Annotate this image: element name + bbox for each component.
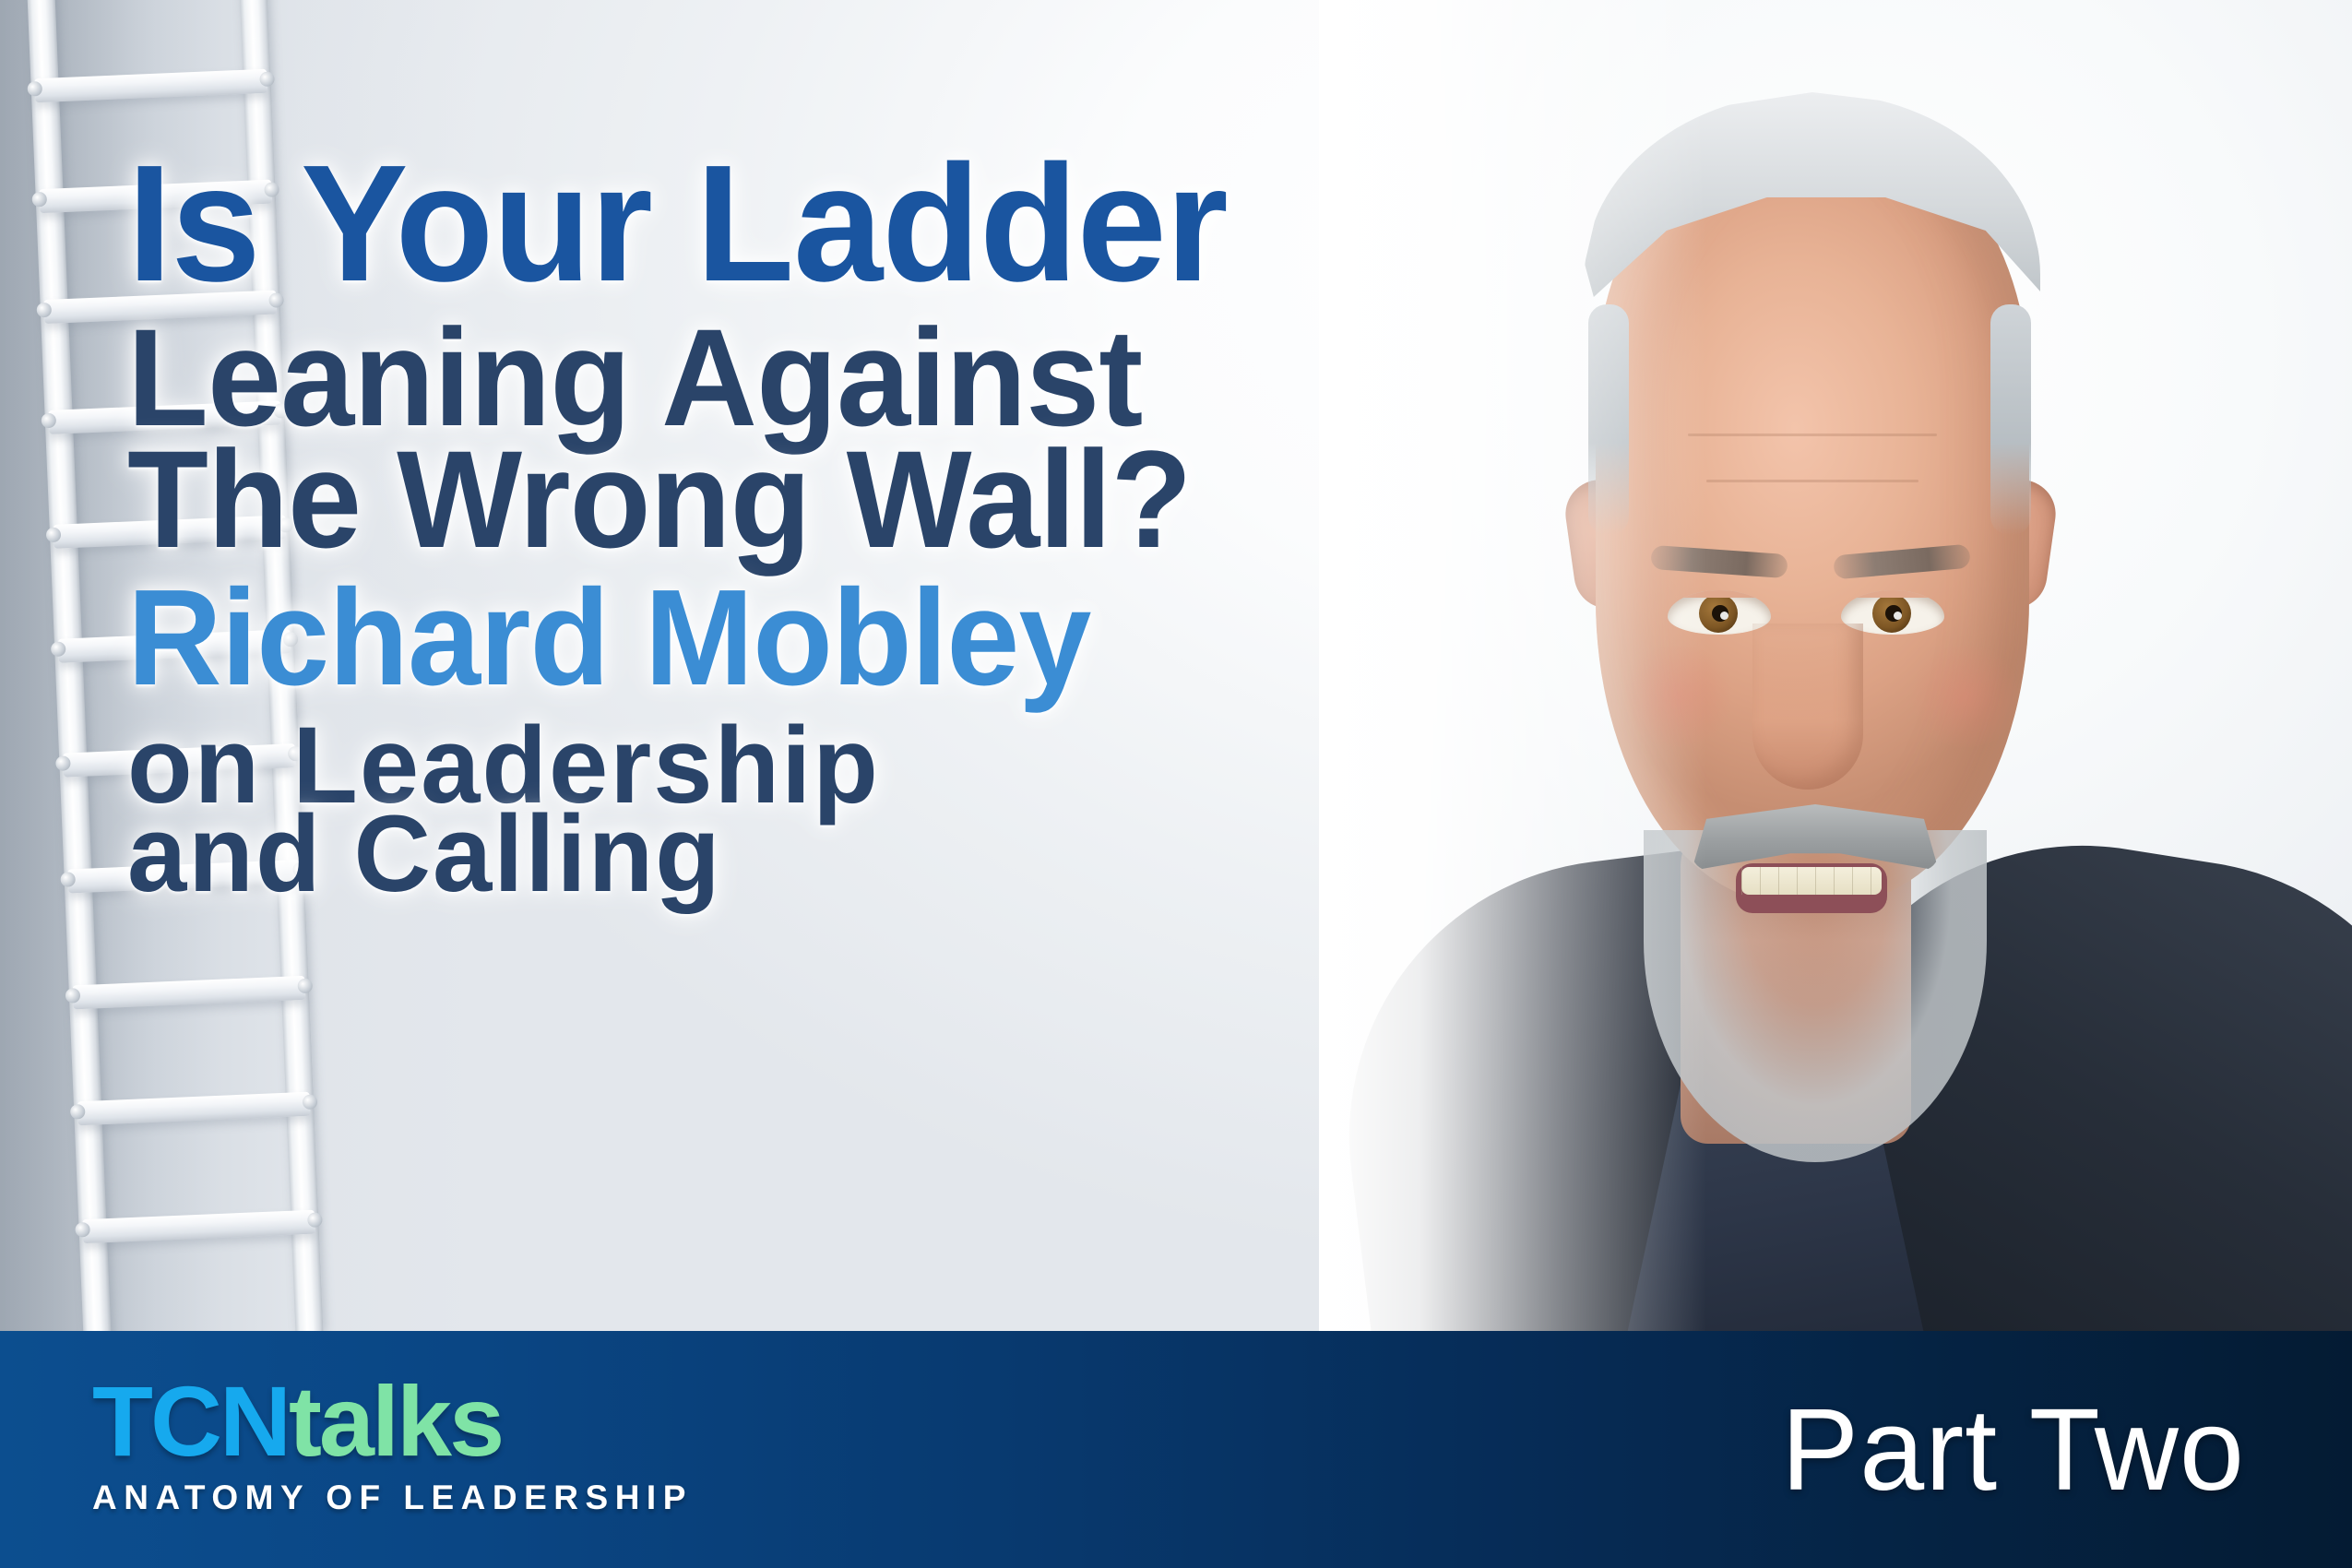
episode-title-block: Is Your Ladder Leaning Against The Wrong… <box>127 148 1474 905</box>
iris-right <box>1872 594 1911 633</box>
cheek-left <box>1618 646 1738 747</box>
teeth <box>1741 867 1882 895</box>
nose <box>1752 624 1863 790</box>
forehead-line <box>1706 480 1918 482</box>
title-line-6: and Calling <box>127 804 1447 905</box>
forehead-line <box>1688 434 1937 436</box>
logo-wordmark: TCNtalks <box>92 1372 756 1471</box>
sideburn-left <box>1588 304 1629 535</box>
eyelid-right <box>1841 590 1944 598</box>
eye-glint-left <box>1720 612 1728 620</box>
pupil-left <box>1712 605 1728 622</box>
eye-glint-right <box>1894 612 1902 620</box>
episode-cover-canvas: Is Your Ladder Leaning Against The Wrong… <box>0 0 2352 1568</box>
logo-tagline: ANATOMY OF LEADERSHIP <box>92 1479 756 1517</box>
ladder-rung <box>73 976 306 1010</box>
mouth <box>1736 863 1887 913</box>
guest-portrait <box>1319 0 2352 1333</box>
footer-bar: TCNtalks ANATOMY OF LEADERSHIP Part Two <box>0 1331 2352 1568</box>
ladder-rung <box>77 1092 311 1126</box>
pupil-right <box>1885 605 1902 622</box>
logo-talks-text: talks <box>289 1365 502 1477</box>
ladder-rung <box>34 69 267 103</box>
ladder-rung <box>82 1210 315 1244</box>
logo-tcn-text: TCN <box>92 1365 289 1477</box>
sideburn-right <box>1990 304 2031 535</box>
tcntalks-logo[interactable]: TCNtalks ANATOMY OF LEADERSHIP <box>92 1372 756 1517</box>
part-number-label: Part Two <box>1781 1383 2245 1516</box>
eyelid-left <box>1668 590 1771 598</box>
title-line-1: Is Your Ladder <box>127 148 1433 301</box>
title-line-3: The Wrong Wall? <box>127 435 1420 563</box>
iris-left <box>1699 594 1738 633</box>
guest-name: Richard Mobley <box>127 576 1420 701</box>
cheek-right <box>1906 646 2025 747</box>
